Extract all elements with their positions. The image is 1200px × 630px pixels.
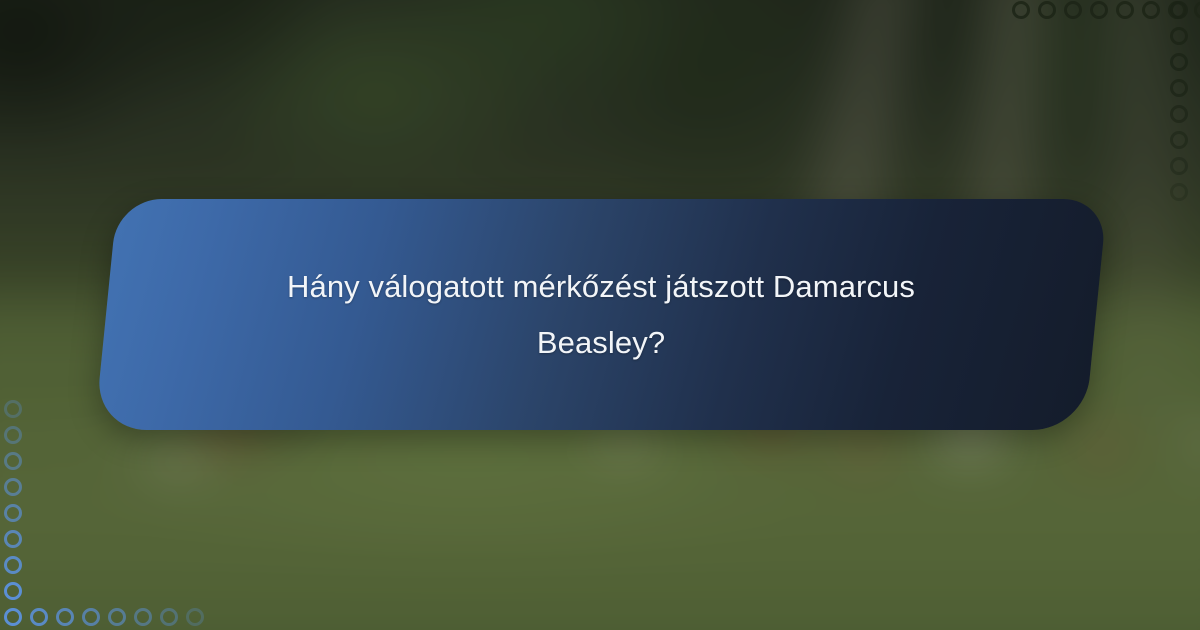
question-title: Hány válogatott mérkőzést játszott Damar… [281,259,921,369]
circle-outline-icon [1170,131,1188,149]
circle-outline-icon [56,608,74,626]
circle-outline-icon [4,556,22,574]
circle-outline-icon [1142,1,1160,19]
circle-outline-icon [1194,1,1200,19]
circle-outline-icon [160,608,178,626]
circle-outline-icon [108,608,126,626]
circle-outline-icon [1090,1,1108,19]
circle-outline-icon [4,400,22,418]
circle-outline-icon [1170,1,1188,19]
circle-outline-icon [4,504,22,522]
circle-outline-icon [134,608,152,626]
circle-outline-icon [1170,105,1188,123]
circle-outline-icon [82,608,100,626]
circle-outline-icon [186,608,204,626]
circle-outline-icon [1012,1,1030,19]
circle-outline-icon [1170,183,1188,201]
circle-outline-icon [1038,1,1056,19]
circle-outline-icon [1170,157,1188,175]
screenshot-canvas: Hány válogatott mérkőzést játszott Damar… [0,0,1200,630]
question-card-content: Hány válogatott mérkőzést játszott Damar… [106,199,1096,430]
circle-outline-icon [4,426,22,444]
circle-outline-icon [4,608,22,626]
circle-outline-icon [1170,53,1188,71]
decoration-dots-right-column [1170,1,1188,201]
circle-outline-icon [4,530,22,548]
decoration-dots-left-column [4,400,22,600]
question-card: Hány válogatott mérkőzést játszott Damar… [94,199,1107,430]
decoration-dots-bottom-row [4,608,204,626]
circle-outline-icon [4,478,22,496]
circle-outline-icon [1116,1,1134,19]
circle-outline-icon [1064,1,1082,19]
circle-outline-icon [4,582,22,600]
circle-outline-icon [1170,27,1188,45]
circle-outline-icon [30,608,48,626]
circle-outline-icon [1170,79,1188,97]
circle-outline-icon [4,452,22,470]
